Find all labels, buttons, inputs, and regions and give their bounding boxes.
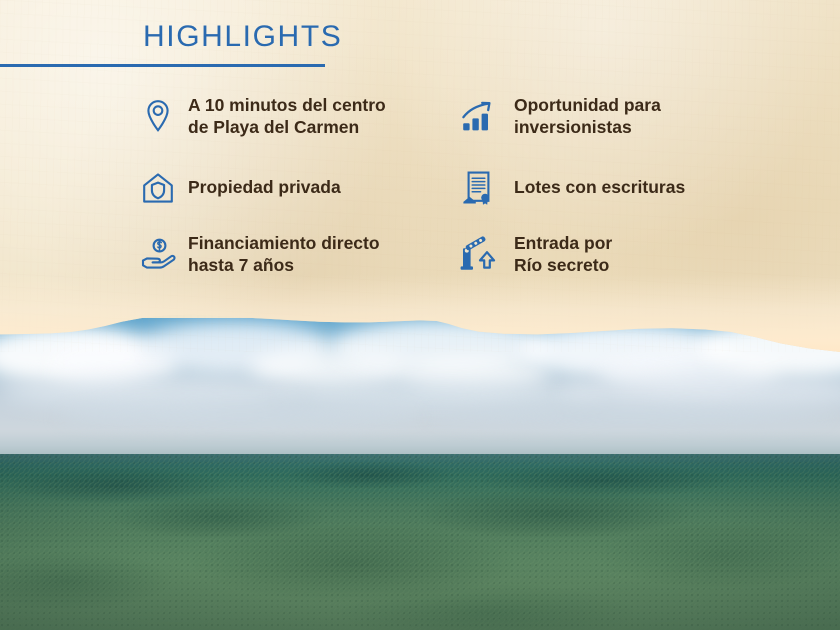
hero-photo-section xyxy=(0,318,840,630)
highlight-item-location[interactable]: A 10 minutos del centro de Playa del Car… xyxy=(136,92,476,138)
entrance-gate-icon xyxy=(456,232,500,276)
page-title: HIGHLIGHTS xyxy=(143,22,342,52)
deed-document-icon xyxy=(456,166,500,210)
growth-chart-icon xyxy=(456,94,500,138)
highlight-label: A 10 minutos del centro de Playa del Car… xyxy=(188,92,476,138)
slide-canvas: HIGHLIGHTS A 10 minutos del centro de Pl… xyxy=(0,0,840,630)
jungle-canopy xyxy=(0,454,840,630)
highlight-item-investment[interactable]: Oportunidad para inversionistas xyxy=(456,92,796,138)
highlight-label: Financiamiento directo hasta 7 años xyxy=(188,230,476,276)
highlight-item-entrance[interactable]: Entrada por Río secreto xyxy=(456,230,796,276)
highlight-label: Propiedad privada xyxy=(188,164,476,198)
highlight-item-private-property[interactable]: Propiedad privada xyxy=(136,164,476,210)
house-shield-icon xyxy=(136,166,180,210)
hand-coin-icon xyxy=(136,232,180,276)
map-pin-icon xyxy=(136,94,180,138)
cloud xyxy=(60,402,420,428)
highlight-label: Lotes con escrituras xyxy=(514,164,796,198)
title-underline-rule xyxy=(0,64,325,67)
highlight-item-financing[interactable]: Financiamiento directo hasta 7 años xyxy=(136,230,476,276)
jungle-vignette xyxy=(0,454,840,630)
highlight-label: Entrada por Río secreto xyxy=(514,230,796,276)
aerial-jungle-photo xyxy=(0,318,840,630)
highlight-label: Oportunidad para inversionistas xyxy=(514,92,796,138)
highlight-item-deeds[interactable]: Lotes con escrituras xyxy=(456,164,796,210)
cloud xyxy=(430,404,830,428)
